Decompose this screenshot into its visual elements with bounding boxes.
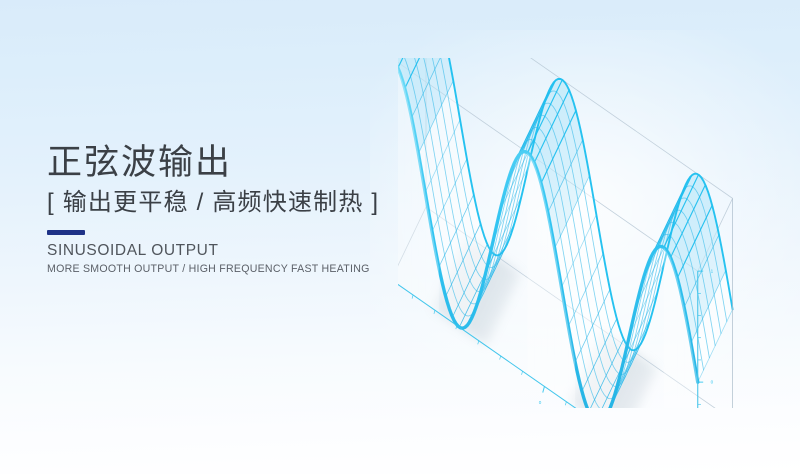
accent-rule (47, 230, 85, 235)
product-feature-banner: 正弦波输出 [ 输出更平稳 / 高频快速制热 ] SINUSOIDAL OUTP… (0, 0, 800, 474)
svg-text:0: 0 (539, 400, 542, 405)
sine-surface-mesh (398, 58, 733, 408)
plot-svg: 10-110-110-1 (398, 58, 798, 408)
svg-text:1: 1 (711, 269, 714, 274)
sine-wave-3d-surface-plot: 10-110-110-1 (398, 58, 798, 408)
svg-text:0: 0 (711, 380, 714, 385)
